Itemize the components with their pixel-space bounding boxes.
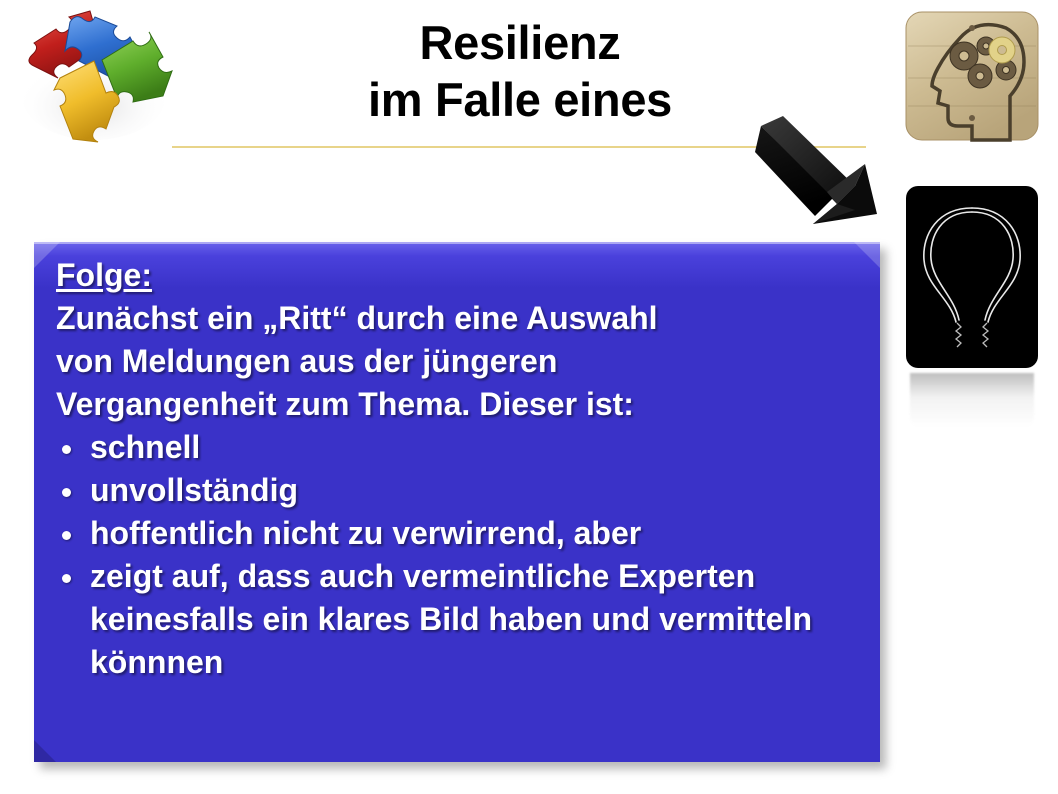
- content-heading: Folge:: [56, 254, 152, 297]
- content-heading-row: Folge:: [56, 254, 862, 297]
- list-item: hoffentlich nicht zu verwirrend, aber: [56, 512, 862, 555]
- bullet-dot-icon: [62, 574, 71, 583]
- down-right-arrow-icon: [755, 112, 895, 237]
- list-item: schnell: [56, 426, 862, 469]
- slide-canvas: Resilienz im Falle eines: [0, 0, 1058, 794]
- list-item-label: hoffentlich nicht zu verwirrend, aber: [90, 515, 641, 551]
- list-item: zeigt auf, dass auch vermeintliche Exper…: [56, 555, 862, 684]
- list-item-label: unvollständig: [90, 472, 298, 508]
- list-item-label: schnell: [90, 429, 200, 465]
- content-box-text: Folge: Zunächst ein „Ritt“ durch eine Au…: [56, 254, 862, 684]
- list-item: unvollständig: [56, 469, 862, 512]
- content-bullet-list: schnell unvollständig hoffentlich nicht …: [56, 426, 862, 684]
- bullet-dot-icon: [62, 531, 71, 540]
- bullet-dot-icon: [62, 488, 71, 497]
- lightbulb-outline-icon: [902, 182, 1042, 372]
- list-item-label: zeigt auf, dass auch vermeintliche Exper…: [90, 558, 812, 680]
- lightbulb-reflection: [910, 373, 1034, 427]
- bullet-dot-icon: [62, 445, 71, 454]
- content-box: Folge: Zunächst ein „Ritt“ durch eine Au…: [34, 242, 880, 762]
- content-paragraph-line-2: von Meldungen aus der jüngeren: [56, 340, 862, 383]
- head-with-gears-icon: [898, 6, 1046, 149]
- content-paragraph-line-1: Zunächst ein „Ritt“ durch eine Auswahl: [56, 297, 862, 340]
- jigsaw-puzzle-icon: [14, 8, 174, 148]
- title-line-1: Resilienz: [175, 14, 865, 71]
- content-paragraph-line-3: Vergangenheit zum Thema. Dieser ist:: [56, 383, 862, 426]
- bevel-bottom-left: [34, 740, 56, 762]
